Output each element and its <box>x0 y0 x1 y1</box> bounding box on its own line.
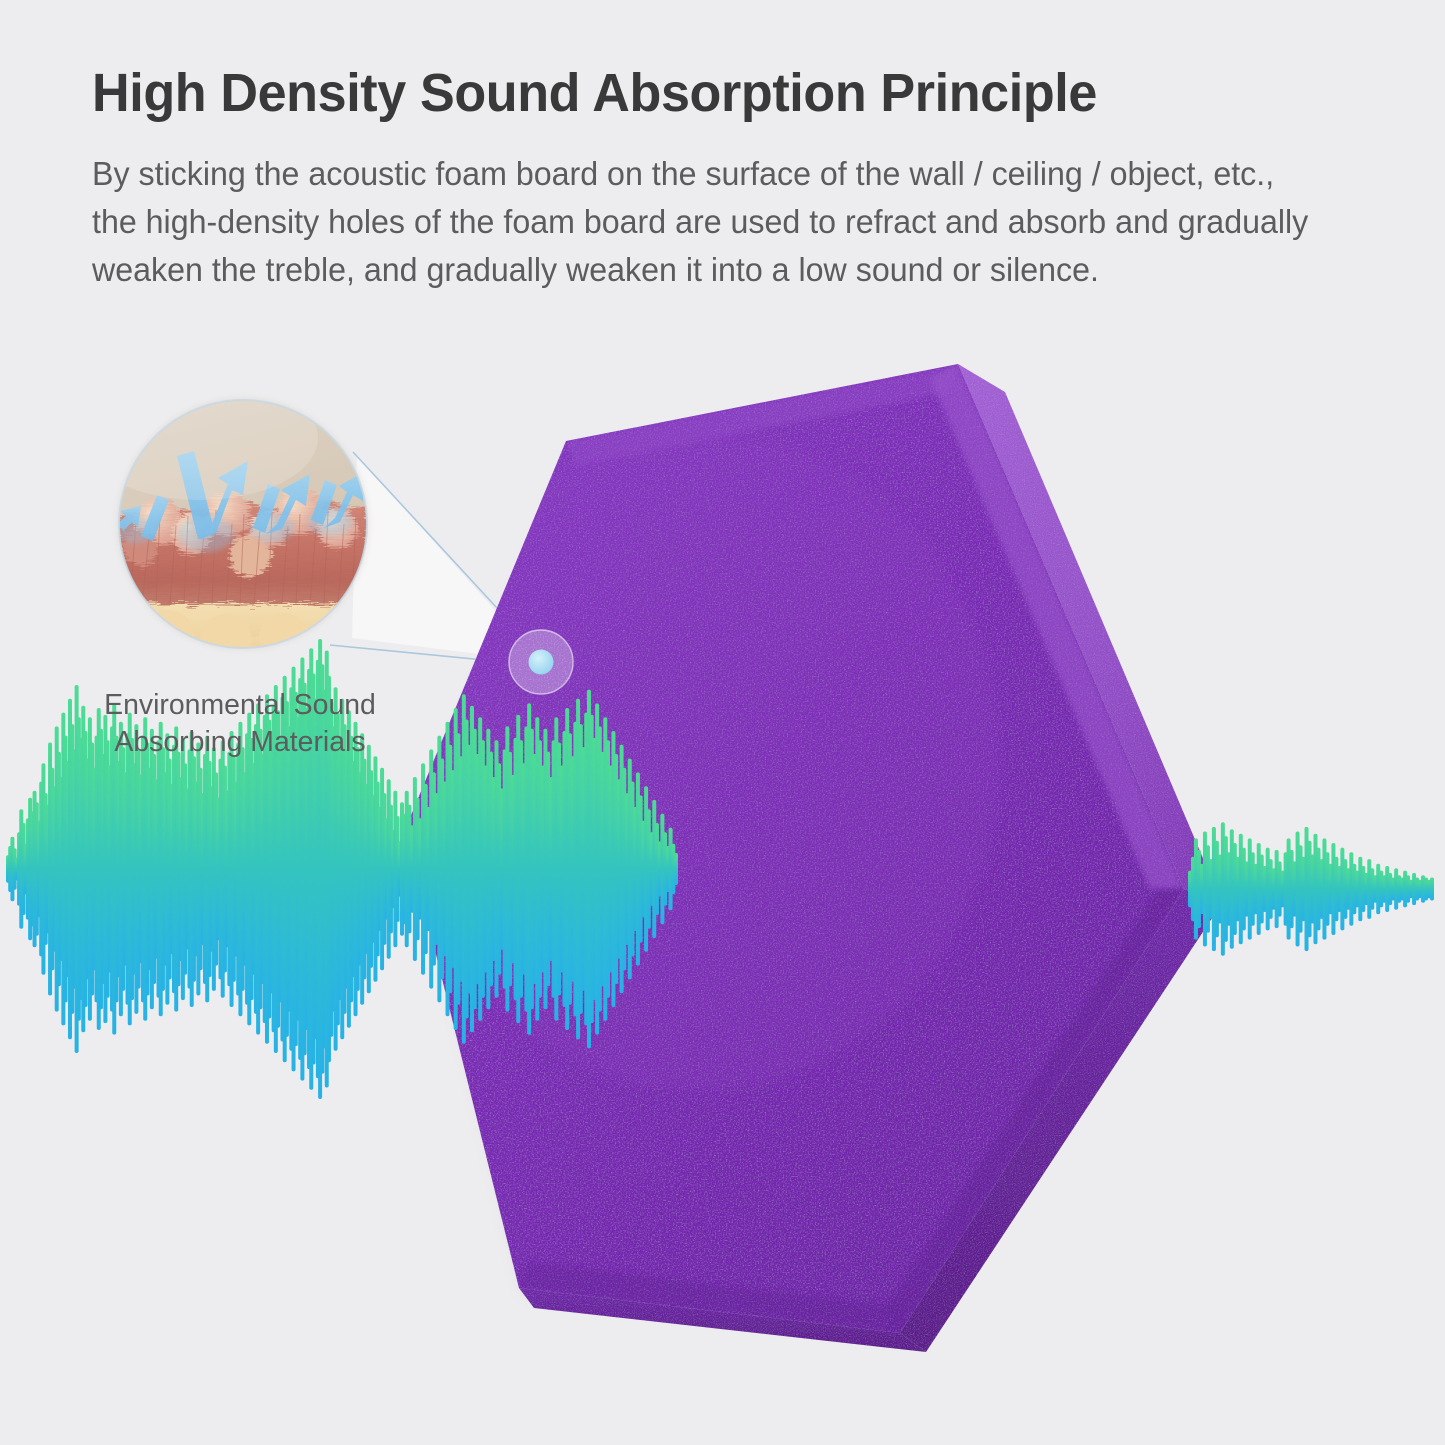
magnifier-caption-line-2: Absorbing Materials <box>64 724 417 761</box>
lens-bead <box>259 613 309 663</box>
magnifier-caption: Environmental Sound Absorbing Materials <box>64 687 417 761</box>
waveform-outgoing <box>1188 822 1434 955</box>
callout-marker[interactable] <box>509 630 573 694</box>
waveform-bar <box>674 853 678 885</box>
magnifier-lens <box>82 376 379 666</box>
lens-glare <box>82 376 318 500</box>
lens-content <box>82 376 379 666</box>
waveform-bar <box>1430 878 1434 901</box>
callout-marker-dot <box>529 650 554 675</box>
lens-fiber-bump <box>229 535 271 577</box>
magnifier-caption-line-1: Environmental Sound <box>64 687 417 724</box>
lens-bead <box>200 614 252 666</box>
infographic-canvas: High Density Sound Absorption Principle … <box>0 0 1445 1445</box>
